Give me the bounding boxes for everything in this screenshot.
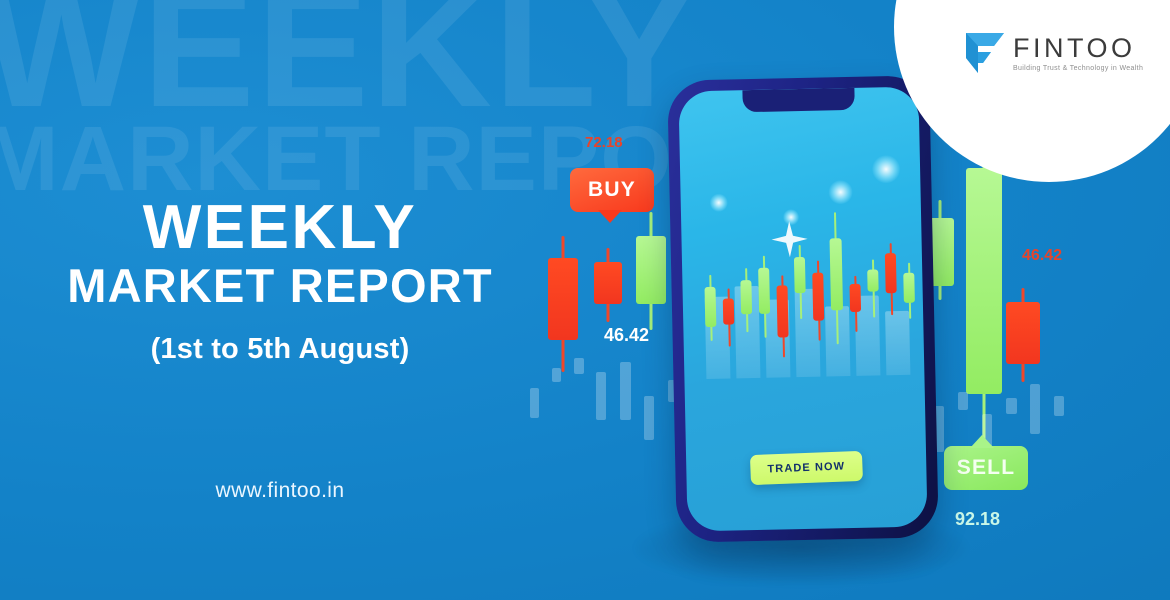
ghost-candle [1006,398,1017,414]
candle-down [812,261,825,341]
candle-down [1006,288,1040,382]
ghost-candle [958,392,968,410]
phone-notch [742,88,854,112]
candle-up [966,132,1002,444]
candle-up [829,212,844,344]
phone-screen: TRADE NOW [678,87,927,532]
candle-body [740,280,752,314]
candle-body [903,273,915,303]
ghost-candle [1054,396,1064,416]
smartphone-mockup: TRADE NOW [667,75,939,542]
candle-body [885,253,897,293]
page-subtitle-date-range: (1st to 5th August) [0,333,560,366]
ghost-candle [620,362,631,420]
page-title-line-1: WEEKLY [0,196,560,259]
glow-dot [828,180,852,204]
page-title-line-2: MARKET REPORT [0,261,560,310]
weekly-market-report-banner: WEEKLY MARKET REPORT 72.18 46.42 46.42 9… [0,0,1170,600]
ghost-candle [574,358,584,374]
candle-body [812,273,824,321]
candle-up [758,256,771,338]
candle-up [903,263,915,319]
brand-logo[interactable]: FINTOO Building Trust & Technology in We… [964,22,1152,84]
right-price-label: 46.42 [1022,247,1062,265]
candle-up [704,275,716,341]
ghost-candle [596,372,606,420]
candle-body [636,236,666,304]
candle-body [1006,302,1040,364]
candle-body [849,284,861,312]
candle-up [740,268,752,332]
candle-body [758,268,770,314]
candle-body [723,298,735,324]
sell-signal-badge[interactable]: SELL [944,446,1028,490]
fintoo-f-mark-icon [964,30,1006,76]
volume-bar [885,311,910,375]
candle-body [777,285,789,337]
ghost-candle [552,368,561,382]
left-price-label: 46.42 [604,325,649,346]
candle-body [867,269,878,291]
candle-down [885,243,898,315]
candle-up [636,212,666,330]
candle-down [723,288,735,346]
buy-signal-badge[interactable]: BUY [570,168,654,212]
buy-price-label: 72.18 [585,134,623,151]
brand-name: FINTOO [1013,35,1143,62]
ghost-candle [1030,384,1040,434]
ghost-candle [644,396,654,440]
candle-body [830,238,844,310]
sparkle-icon [769,219,810,260]
candle-down [849,276,861,332]
candle-body [794,257,806,293]
candle-up [867,259,879,317]
candle-body [966,168,1002,394]
candle-body [594,262,622,304]
sell-price-label: 92.18 [955,509,1000,530]
glow-dot [872,155,901,184]
ghost-candle [530,388,539,418]
trade-now-button[interactable]: TRADE NOW [750,451,863,485]
candle-down [594,248,622,322]
candle-body [705,287,717,327]
candle-down [776,275,789,357]
headline-block: WEEKLY MARKET REPORT (1st to 5th August) [0,196,560,366]
brand-tagline: Building Trust & Technology in Wealth [1013,65,1143,72]
glow-dot [710,194,728,212]
website-url[interactable]: www.fintoo.in [0,479,560,503]
